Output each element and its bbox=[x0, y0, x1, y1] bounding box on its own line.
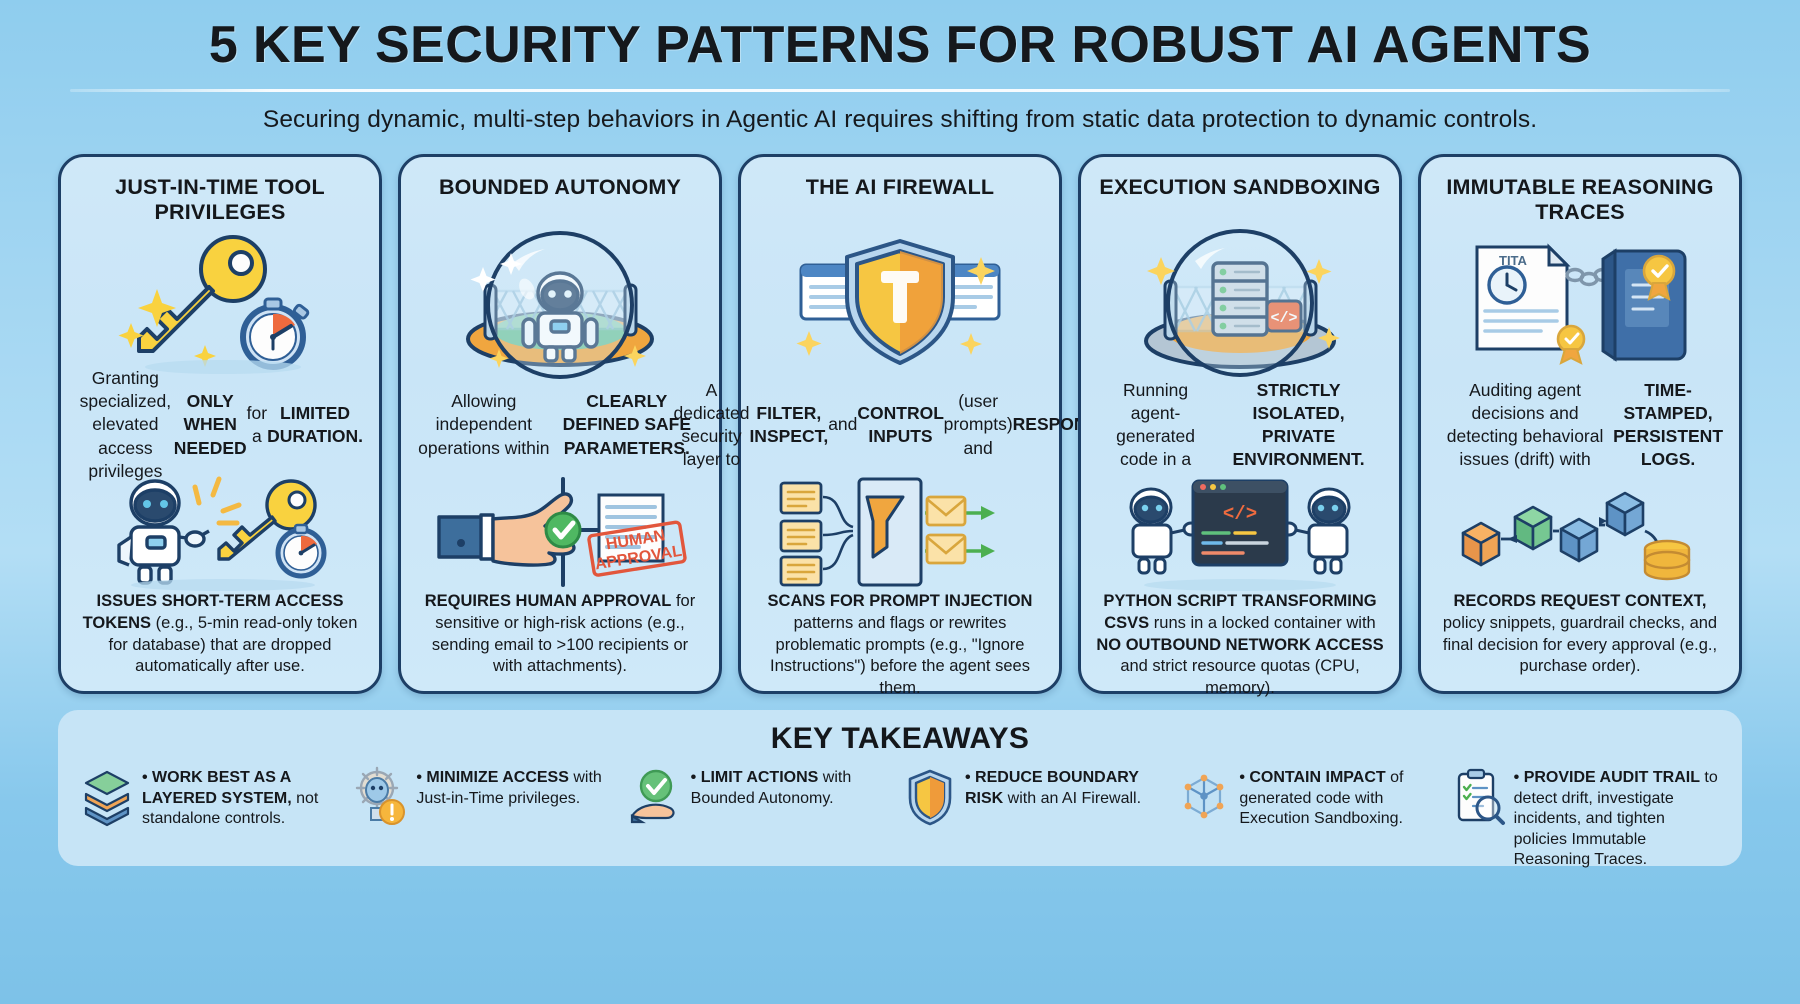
robot-in-bubble-with-fence-icon bbox=[413, 227, 707, 377]
page-title: 5 KEY SECURITY PATTERNS FOR ROBUST AI AG… bbox=[60, 18, 1740, 73]
key-takeaways-list: • WORK BEST AS A LAYERED SYSTEM, not sta… bbox=[80, 766, 1720, 870]
card-title: EXECUTION SANDBOXING bbox=[1099, 175, 1380, 227]
key-takeaways-title: KEY TAKEAWAYS bbox=[80, 722, 1720, 756]
svg-text:</>: </> bbox=[1223, 503, 1257, 525]
server-in-bubble-with-fence-icon: </> bbox=[1093, 227, 1387, 377]
card-description: Auditing agent decisions and detecting b… bbox=[1433, 377, 1727, 473]
hand-pointing-human-approval-stamp-icon: HUMAN APPROVAL bbox=[413, 473, 707, 591]
takeaway-text: • CONTAIN IMPACT of generated code with … bbox=[1239, 766, 1445, 829]
card-title: BOUNDED AUTONOMY bbox=[439, 175, 681, 227]
card-title: JUST-IN-TIME TOOL PRIVILEGES bbox=[73, 175, 367, 227]
cube-network-icon bbox=[1177, 766, 1231, 828]
takeaway-item: • MINIMIZE ACCESS with Just-in-Time priv… bbox=[354, 766, 622, 828]
card-footnote: ISSUES SHORT-TERM ACCESS TOKENS (e.g., 5… bbox=[73, 591, 367, 678]
takeaway-item: • WORK BEST AS A LAYERED SYSTEM, not sta… bbox=[80, 766, 348, 829]
takeaway-item: • LIMIT ACTIONS with Bounded Autonomy. bbox=[629, 766, 897, 828]
takeaway-text: • WORK BEST AS A LAYERED SYSTEM, not sta… bbox=[142, 766, 348, 829]
takeaway-item: • PROVIDE AUDIT TRAIL to detect drift, i… bbox=[1452, 766, 1720, 870]
title-divider bbox=[70, 89, 1730, 92]
page-subtitle: Securing dynamic, multi-step behaviors i… bbox=[60, 106, 1740, 134]
blockchain-blocks-to-database-icon bbox=[1433, 473, 1727, 591]
takeaway-text: • REDUCE BOUNDARY RISK with an AI Firewa… bbox=[965, 766, 1171, 809]
card-immutable-reasoning-traces[interactable]: IMMUTABLE REASONING TRACES TITA bbox=[1418, 154, 1742, 694]
gear-robot-warning-icon bbox=[354, 766, 408, 828]
filter-funnel-emails-icon bbox=[753, 473, 1047, 591]
shield-over-documents-icon bbox=[753, 227, 1047, 377]
check-in-hand-icon bbox=[629, 766, 683, 828]
card-description: Allowing independent operations within C… bbox=[413, 377, 707, 473]
clipboard-magnifier-icon bbox=[1452, 766, 1506, 828]
card-title: THE AI FIREWALL bbox=[806, 175, 995, 227]
layers-stack-icon bbox=[80, 766, 134, 828]
robot-with-key-and-stopwatch-icon bbox=[73, 473, 367, 591]
pattern-cards: JUST-IN-TIME TOOL PRIVILEGES bbox=[0, 134, 1800, 694]
key-takeaways-panel: KEY TAKEAWAYS • WORK BEST AS A LAYERED S… bbox=[58, 710, 1742, 866]
card-description: Running agent-generated code in a STRICT… bbox=[1093, 377, 1387, 473]
takeaway-text: • PROVIDE AUDIT TRAIL to detect drift, i… bbox=[1514, 766, 1720, 870]
takeaway-item: • REDUCE BOUNDARY RISK with an AI Firewa… bbox=[903, 766, 1171, 828]
takeaway-item: • CONTAIN IMPACT of generated code with … bbox=[1177, 766, 1445, 829]
card-footnote: REQUIRES HUMAN APPROVAL for sensitive or… bbox=[413, 591, 707, 678]
card-title: IMMUTABLE REASONING TRACES bbox=[1433, 175, 1727, 227]
card-description: Granting specialized, elevated access pr… bbox=[73, 377, 367, 473]
card-the-ai-firewall[interactable]: THE AI FIREWALL bbox=[738, 154, 1062, 694]
card-just-in-time-tool-privileges[interactable]: JUST-IN-TIME TOOL PRIVILEGES bbox=[58, 154, 382, 694]
shield-icon bbox=[903, 766, 957, 828]
card-footnote: SCANS FOR PROMPT INJECTION patterns and … bbox=[753, 591, 1047, 700]
takeaway-text: • LIMIT ACTIONS with Bounded Autonomy. bbox=[691, 766, 897, 809]
card-footnote: PYTHON SCRIPT TRANSFORMING CSVS runs in … bbox=[1093, 591, 1387, 700]
robots-at-code-terminal-icon: </> bbox=[1093, 473, 1387, 591]
card-footnote: RECORDS REQUEST CONTEXT, policy snippets… bbox=[1433, 591, 1727, 678]
takeaway-text: • MINIMIZE ACCESS with Just-in-Time priv… bbox=[416, 766, 622, 809]
card-execution-sandboxing[interactable]: EXECUTION SANDBOXING bbox=[1078, 154, 1402, 694]
key-and-stopwatch-icon bbox=[73, 227, 367, 377]
header: 5 KEY SECURITY PATTERNS FOR ROBUST AI AG… bbox=[0, 0, 1800, 134]
card-description: A dedicated security layer to FILTER, IN… bbox=[670, 377, 1131, 473]
ledger-chained-to-certificate-icon: TITA bbox=[1433, 227, 1727, 377]
